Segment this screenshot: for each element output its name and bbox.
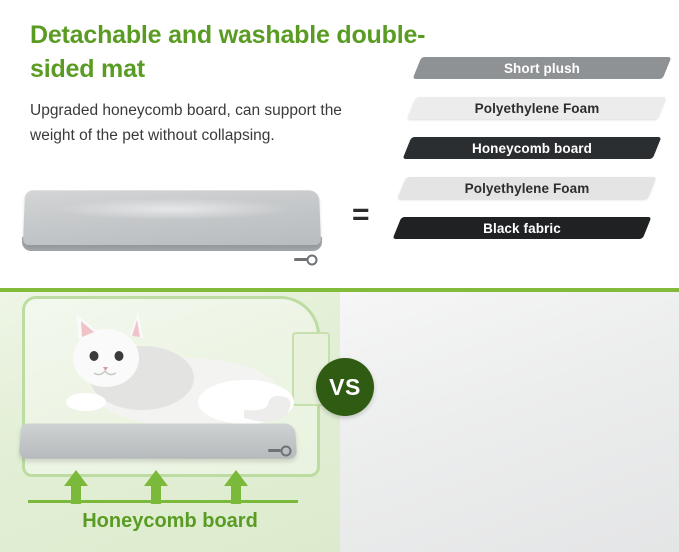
white-cat-lying	[46, 306, 296, 436]
layer-2-label: Honeycomb board	[407, 137, 657, 159]
layer-0-label: Short plush	[417, 57, 667, 79]
bottom-panel: Honeycomb board	[0, 292, 679, 552]
subtext: Upgraded honeycomb board, can support th…	[30, 98, 390, 148]
vs-badge: VS	[316, 358, 374, 416]
equals-sign: =	[352, 200, 370, 230]
layer-0: Short plush	[417, 57, 667, 79]
layer-2: Honeycomb board	[407, 137, 657, 159]
top-panel: Detachable and washable double-sided mat…	[0, 0, 679, 290]
caption-left: Honeycomb board	[0, 510, 340, 533]
mat-sheen	[54, 198, 294, 220]
layer-4-label: Black fabric	[397, 217, 647, 239]
layer-3-label: Polyethylene Foam	[402, 177, 652, 199]
layer-1-label: Polyethylene Foam	[412, 97, 662, 119]
zipper-pull-left-icon	[268, 444, 294, 458]
product-infographic: Detachable and washable double-sided mat…	[0, 0, 679, 552]
layer-1: Polyethylene Foam	[412, 97, 662, 119]
layer-stack: Short plush Polyethylene Foam Honeycomb …	[395, 57, 667, 272]
mat-left-honeycomb	[19, 424, 297, 459]
support-baseline	[28, 500, 298, 503]
comparison-right: PP board	[340, 292, 679, 552]
mat-illustration	[14, 190, 334, 270]
zipper-pull-icon	[294, 254, 320, 266]
layer-4: Black fabric	[397, 217, 647, 239]
layer-3: Polyethylene Foam	[402, 177, 652, 199]
comparison-left: Honeycomb board	[0, 292, 340, 552]
mat-top-surface	[23, 190, 321, 245]
headline: Detachable and washable double-sided mat	[30, 18, 430, 86]
